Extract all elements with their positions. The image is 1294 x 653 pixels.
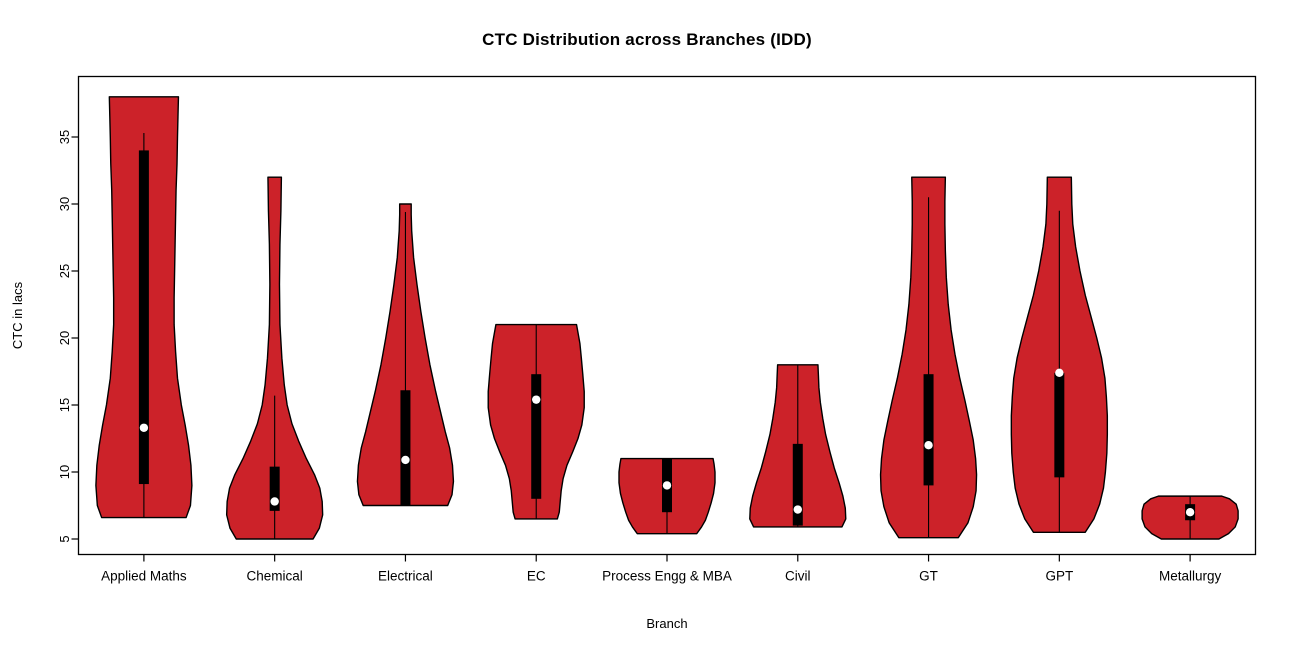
x-tick-label: Process Engg & MBA (602, 569, 732, 584)
y-axis-title: CTC in lacs (10, 281, 25, 349)
iqr-box (531, 374, 541, 499)
x-axis-title: Branch (646, 616, 687, 631)
violin-process-engg-mba (619, 459, 715, 534)
iqr-box (1054, 373, 1064, 478)
median-marker (532, 395, 540, 403)
violin-electrical (357, 204, 453, 506)
x-tick-label: Metallurgy (1159, 569, 1222, 584)
x-tick-label: Applied Maths (101, 569, 187, 584)
iqr-box (400, 390, 410, 505)
x-tick-label: EC (527, 569, 546, 584)
median-marker (140, 424, 148, 432)
y-tick-label: 15 (57, 398, 72, 412)
chart-canvas: 5101520253035Applied MathsChemicalElectr… (0, 0, 1294, 653)
median-marker (794, 505, 802, 513)
violin-civil (750, 365, 846, 527)
x-tick-label: Electrical (378, 569, 433, 584)
x-tick-label: GPT (1045, 569, 1073, 584)
violins-layer (96, 97, 1238, 539)
median-marker (270, 497, 278, 505)
y-tick-label: 35 (57, 130, 72, 144)
violin-chemical (227, 177, 323, 539)
iqr-box (924, 374, 934, 485)
y-tick-label: 5 (57, 535, 72, 542)
y-tick-label: 10 (57, 465, 72, 479)
violin-gt (881, 177, 977, 537)
violin-plot-figure: CTC Distribution across Branches (IDD) 5… (0, 0, 1294, 653)
iqr-box (139, 150, 149, 484)
x-tick-label: Civil (785, 569, 811, 584)
y-tick-label: 30 (57, 197, 72, 211)
median-marker (1186, 508, 1194, 516)
y-tick-label: 20 (57, 331, 72, 345)
y-tick-label: 25 (57, 264, 72, 278)
violin-applied-maths (96, 97, 192, 518)
median-marker (1055, 369, 1063, 377)
x-tick-label: Chemical (247, 569, 303, 584)
median-marker (663, 481, 671, 489)
median-marker (401, 456, 409, 464)
median-marker (924, 441, 932, 449)
x-tick-label: GT (919, 569, 938, 584)
violin-gpt (1011, 177, 1107, 532)
violin-ec (488, 325, 584, 519)
violin-metallurgy (1142, 496, 1238, 539)
